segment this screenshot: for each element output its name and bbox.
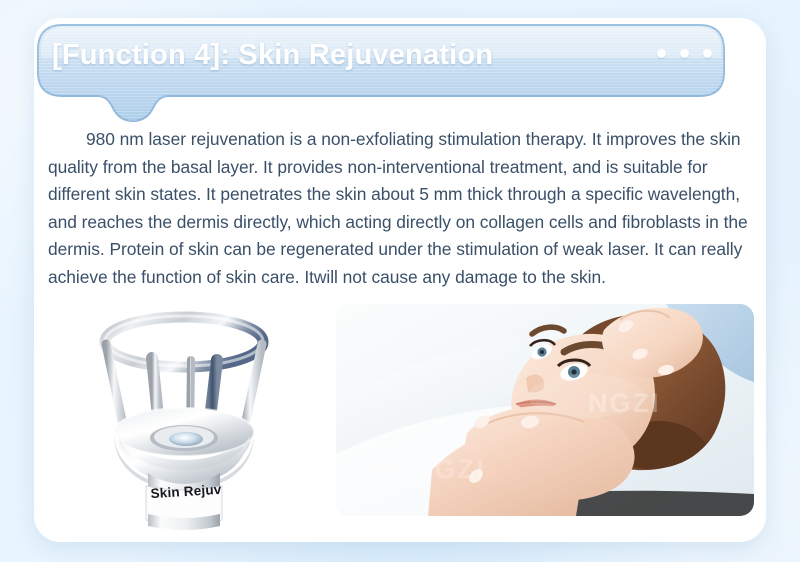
treatment-photo-illustration <box>336 304 754 516</box>
device-illustration <box>86 308 282 536</box>
treatment-photo: NGZI HANGZI <box>336 304 754 516</box>
page-title: [Function 4]: Skin Rejuvenation <box>52 33 612 77</box>
media-row: Skin Rejuv <box>48 300 754 536</box>
device-image: Skin Rejuv <box>86 308 282 536</box>
header-dots <box>657 49 712 58</box>
dot-3-icon <box>703 49 712 58</box>
dot-1-icon <box>657 49 666 58</box>
dot-2-icon <box>680 49 689 58</box>
body-paragraph: 980 nm laser rejuvenation is a non-exfol… <box>48 126 760 291</box>
